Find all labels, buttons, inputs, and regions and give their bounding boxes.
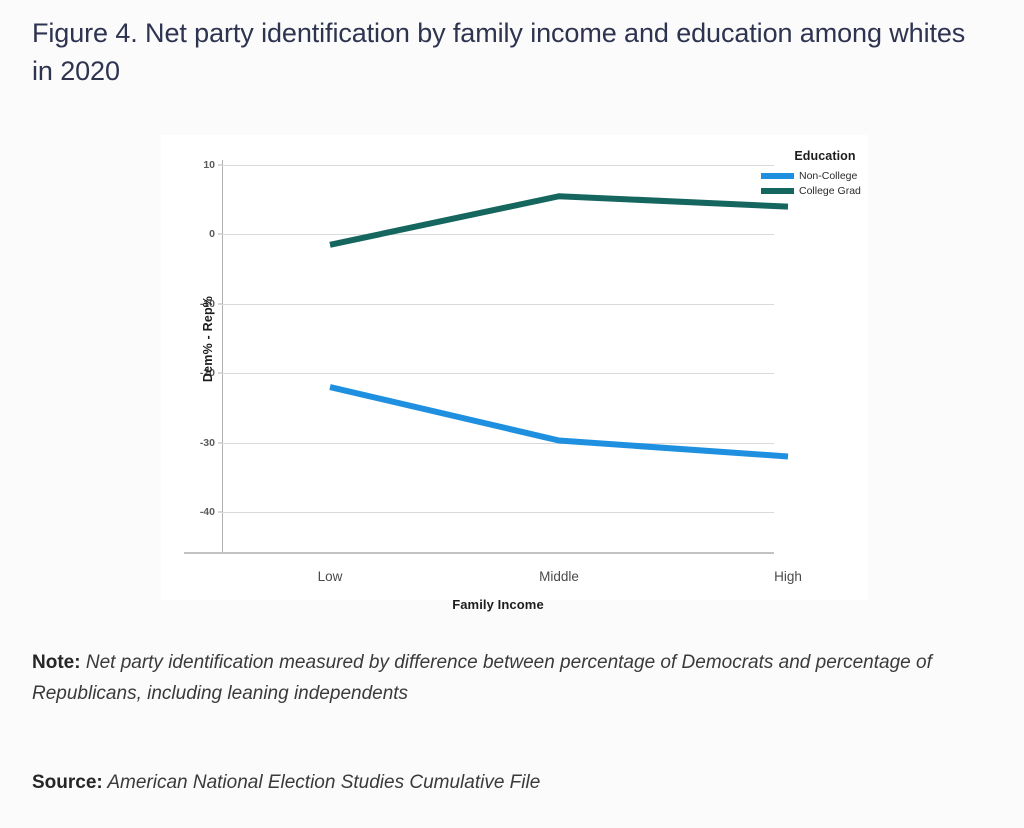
x-tick-label: High (774, 569, 802, 584)
page-title: Figure 4. Net party identification by fa… (32, 14, 992, 91)
x-axis-line (184, 552, 774, 554)
x-tick-label: Middle (539, 569, 579, 584)
series-line-college-grad (330, 196, 788, 245)
legend-item[interactable]: Non-College (761, 170, 889, 182)
legend-swatch-icon (761, 173, 794, 179)
series-lines (222, 165, 774, 512)
plot-area: 100-10-20-30-40 LowMiddleHigh Family Inc… (222, 165, 774, 512)
source-text: American National Election Studies Cumul… (107, 772, 540, 793)
y-tick-label: 10 (203, 159, 215, 171)
legend-swatch-icon (761, 188, 794, 194)
y-tick-label: -30 (200, 437, 215, 449)
x-tick-label: Low (318, 569, 343, 584)
gridline (222, 512, 774, 513)
legend-item[interactable]: College Grad (761, 185, 889, 197)
legend-item-label: College Grad (799, 185, 861, 197)
legend-item-label: Non-College (799, 170, 857, 182)
y-tick-label: 0 (209, 228, 215, 240)
source-block: Source: American National Election Studi… (32, 768, 982, 799)
chart-panel: 100-10-20-30-40 LowMiddleHigh Family Inc… (161, 135, 868, 600)
y-tick-label: -40 (200, 506, 215, 518)
x-axis-title: Family Income (222, 597, 774, 612)
series-line-non-college (330, 387, 788, 456)
y-axis-title: Dem% - Rep% (201, 295, 215, 381)
note-label: Note: (32, 652, 81, 673)
legend-title: Education (761, 149, 889, 163)
source-label: Source: (32, 772, 103, 793)
note-block: Note: Net party identification measured … (32, 648, 982, 710)
chart-legend: Education Non-CollegeCollege Grad (761, 149, 889, 200)
note-text: Net party identification measured by dif… (32, 652, 932, 704)
